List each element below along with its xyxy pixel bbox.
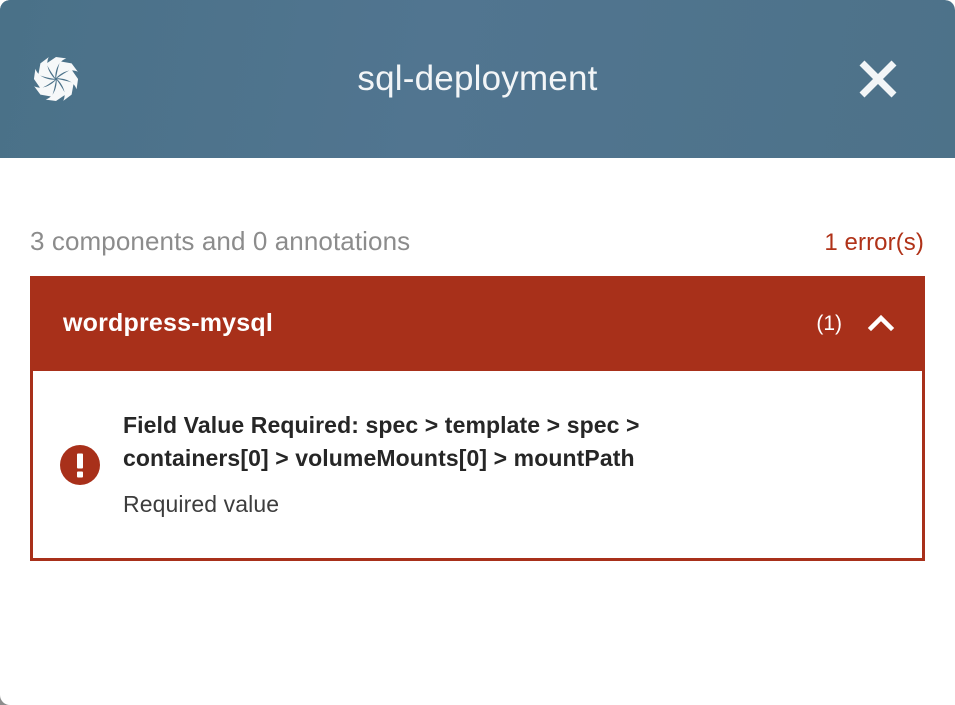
close-x-icon xyxy=(855,56,901,102)
error-exclamation-icon xyxy=(59,444,101,486)
summary-error-count: 1 error(s) xyxy=(824,229,925,257)
monokle-pinwheel-logo-icon xyxy=(30,53,82,105)
collapse-toggle-button[interactable] xyxy=(864,307,898,341)
resource-panel-title: wordpress-mysql xyxy=(63,309,273,338)
page-title: sql-deployment xyxy=(0,59,955,99)
modal-header: sql-deployment xyxy=(0,0,955,158)
close-button[interactable] xyxy=(853,54,903,104)
resource-panel: wordpress-mysql (1) xyxy=(30,276,925,561)
chevron-up-icon xyxy=(866,309,896,339)
resource-panel-header-right: (1) xyxy=(816,307,898,341)
validation-error-detail: Required value xyxy=(123,490,892,520)
validation-error-title: Field Value Required: spec > template > … xyxy=(123,409,723,474)
validation-error-item: Field Value Required: spec > template > … xyxy=(59,409,892,520)
validation-modal: sql-deployment 3 components and 0 annota… xyxy=(0,0,955,705)
modal-body: 3 components and 0 annotations 1 error(s… xyxy=(0,158,955,561)
resource-panel-content: Field Value Required: spec > template > … xyxy=(33,371,922,558)
summary-row: 3 components and 0 annotations 1 error(s… xyxy=(30,158,925,276)
window-corner-bottom-left xyxy=(0,693,12,705)
validation-error-texts: Field Value Required: spec > template > … xyxy=(123,409,892,520)
resource-panel-header[interactable]: wordpress-mysql (1) xyxy=(30,276,925,371)
summary-components-count: 3 components and 0 annotations xyxy=(30,226,410,257)
resource-panel-error-count: (1) xyxy=(816,312,842,336)
